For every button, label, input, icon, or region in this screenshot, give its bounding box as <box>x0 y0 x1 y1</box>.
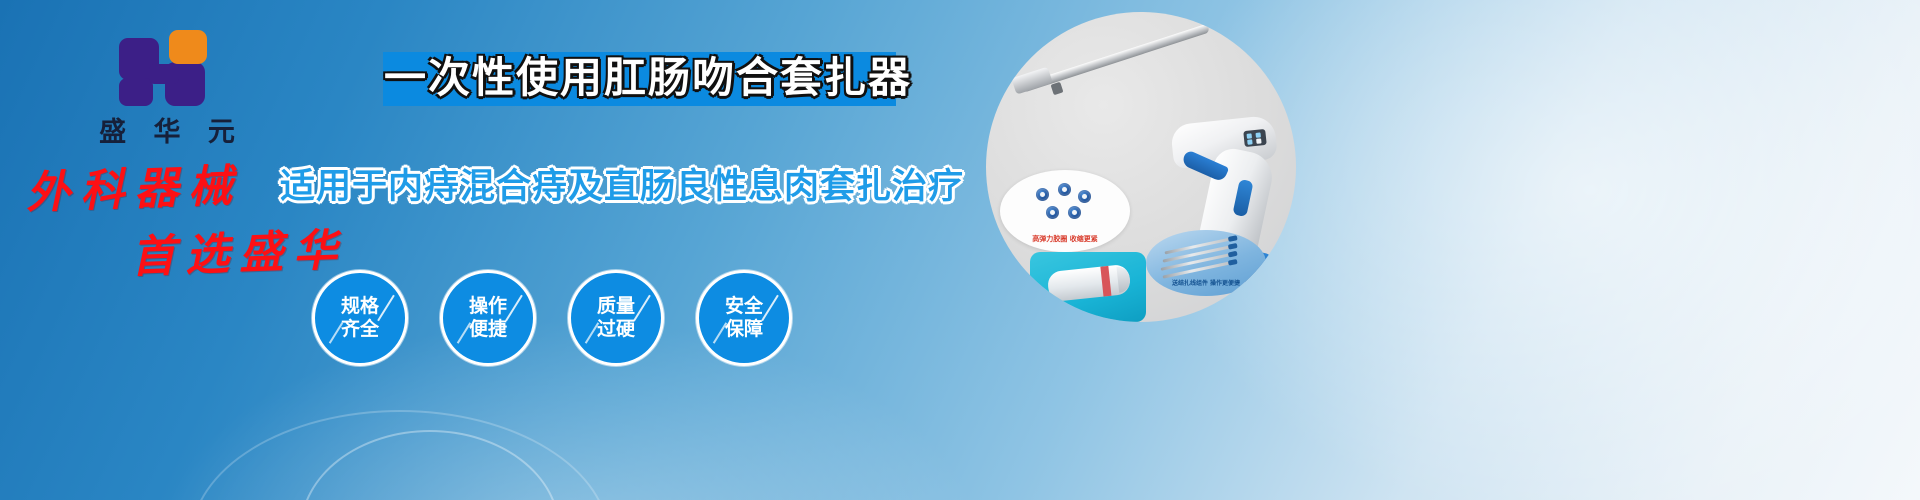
rubber-rings-caption: 高弹力胶圈 收缩更紧 <box>1000 234 1130 244</box>
anoscope-inset <box>1030 252 1146 322</box>
promo-banner: 盛 华 元 外科器械 首选盛华 一次性使用肛肠吻合套扎器 适用于内痔混合痔及直肠… <box>0 0 1920 500</box>
feature-badge-line-1: 规格 <box>341 295 379 318</box>
needle-tip <box>1228 251 1238 258</box>
feature-badge-line-2: 过硬 <box>597 318 635 341</box>
needle-tip <box>1228 235 1238 242</box>
brand-logo-block[interactable]: 盛 华 元 <box>72 28 262 149</box>
anoscope-band <box>1100 266 1111 297</box>
rubber-ring-icon <box>1078 190 1091 203</box>
logo-shape-bottom-left <box>119 78 153 106</box>
needle-tip <box>1228 259 1238 266</box>
device-button <box>1247 133 1252 138</box>
feature-badge-line-2: 齐全 <box>341 318 379 341</box>
slash-decoration-icon <box>505 295 523 322</box>
rubber-ring-icon <box>1068 206 1081 219</box>
feature-badge-specs[interactable]: 规格 齐全 <box>312 270 408 366</box>
feature-badge-list: 规格 齐全 操作 便捷 质量 过硬 安全 保障 <box>312 270 792 366</box>
slash-decoration-icon <box>761 295 779 322</box>
decorative-arc <box>190 410 610 500</box>
slash-decoration-icon <box>377 295 395 322</box>
logo-shape-bridge <box>149 64 179 84</box>
feature-badge-line-2: 便捷 <box>469 318 507 341</box>
rubber-ring-icon <box>1036 188 1049 201</box>
needle-tip <box>1228 243 1238 250</box>
headline-subtitle: 适用于内痔混合痔及直肠良性息肉套扎治疗 <box>280 158 940 209</box>
device-tip <box>1011 67 1052 95</box>
needles-caption: 送结扎线组件 操作更便捷 <box>1146 278 1266 287</box>
feature-badge-quality[interactable]: 质量 过硬 <box>568 270 664 366</box>
slash-decoration-icon <box>633 295 651 322</box>
shenghuayuan-logo-icon <box>119 28 215 106</box>
device-button <box>1247 139 1252 144</box>
rubber-ring-icon <box>1046 206 1059 219</box>
device-button-pad <box>1243 129 1267 147</box>
feature-badge-line-1: 质量 <box>597 295 635 318</box>
feature-badge-line-1: 安全 <box>725 295 763 318</box>
device-button <box>1256 138 1261 143</box>
feature-badge-operation[interactable]: 操作 便捷 <box>440 270 536 366</box>
anoscope-body <box>1047 264 1132 302</box>
feature-badge-line-1: 操作 <box>469 295 507 318</box>
device-tip-cap <box>1051 82 1064 96</box>
ligation-device-photo: 高弹力胶圈 收缩更紧 送结扎线组件 操作更便捷 <box>986 12 1296 322</box>
logo-shape-orange <box>169 30 207 64</box>
anoscope-cap <box>1116 266 1131 293</box>
brand-name: 盛 华 元 <box>72 110 262 149</box>
rubber-rings-inset: 高弹力胶圈 收缩更紧 <box>1000 170 1130 252</box>
needle-icon <box>1162 260 1235 278</box>
rubber-ring-icon <box>1058 183 1071 196</box>
device-button <box>1255 132 1260 137</box>
page-title: 一次性使用肛肠吻合套扎器 <box>338 50 958 106</box>
feature-badge-line-2: 保障 <box>725 318 763 341</box>
needles-inset: 送结扎线组件 操作更便捷 <box>1146 230 1266 296</box>
feature-badge-safety[interactable]: 安全 保障 <box>696 270 792 366</box>
